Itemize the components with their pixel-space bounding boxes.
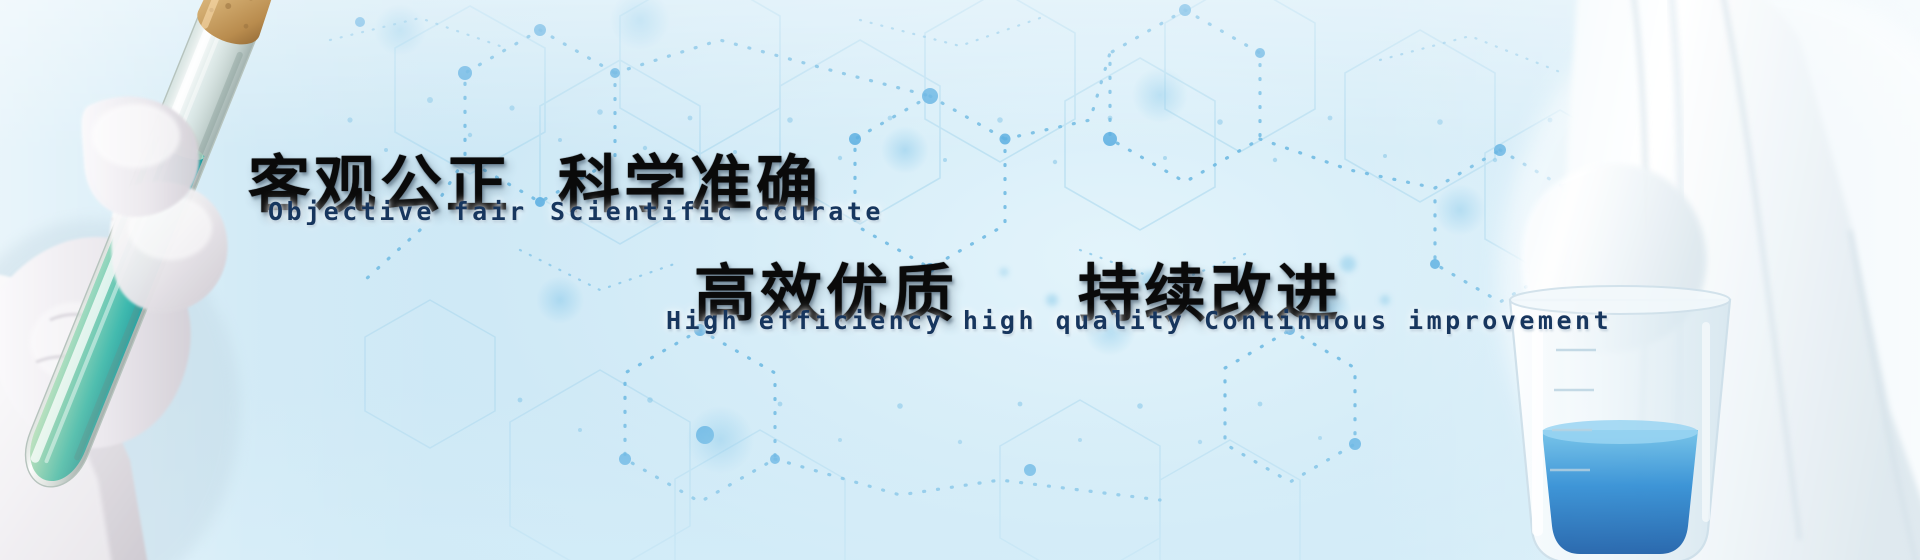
hero-banner: 客观公正 科学准确 Objective fair Scientific ccur… [0, 0, 1920, 560]
slogan-subtitle-1: Objective fair [268, 197, 528, 226]
slogan-subtitle-row-2: High efficiency high quality Continuous … [666, 306, 1612, 335]
slogan-text-layer: 客观公正 科学准确 Objective fair Scientific ccur… [0, 0, 1920, 560]
slogan-subtitle-2: Scientific ccurate [550, 197, 884, 226]
